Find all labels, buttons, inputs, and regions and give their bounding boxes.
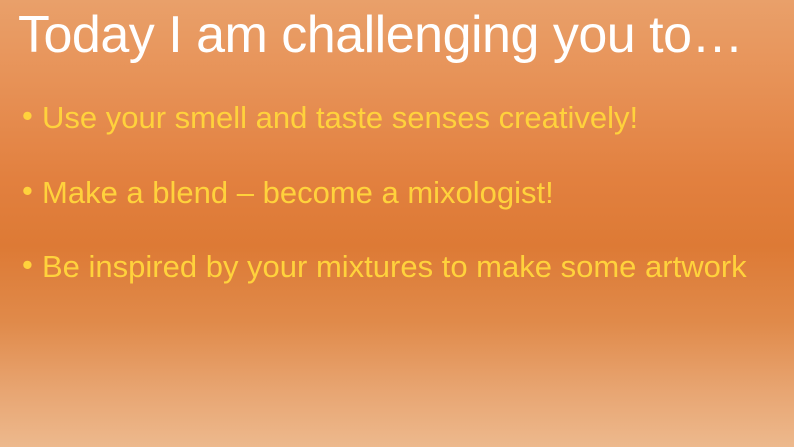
slide-title: Today I am challenging you to… bbox=[18, 8, 778, 63]
presentation-slide: Today I am challenging you to… • Use you… bbox=[0, 0, 794, 447]
bullet-item-2: • Make a blend – become a mixologist! bbox=[22, 175, 772, 212]
bullet-text-2: Make a blend – become a mixologist! bbox=[42, 175, 554, 210]
bullet-marker-icon: • bbox=[22, 247, 33, 284]
bullet-text-3: Be inspired by your mixtures to make som… bbox=[42, 249, 747, 284]
bullet-item-1: • Use your smell and taste senses creati… bbox=[22, 100, 772, 137]
bullet-marker-icon: • bbox=[22, 173, 33, 210]
slide-bullet-list: • Use your smell and taste senses creati… bbox=[22, 100, 772, 286]
bullet-text-1: Use your smell and taste senses creative… bbox=[42, 100, 638, 135]
bullet-marker-icon: • bbox=[22, 98, 33, 135]
bullet-item-3: • Be inspired by your mixtures to make s… bbox=[22, 249, 772, 286]
